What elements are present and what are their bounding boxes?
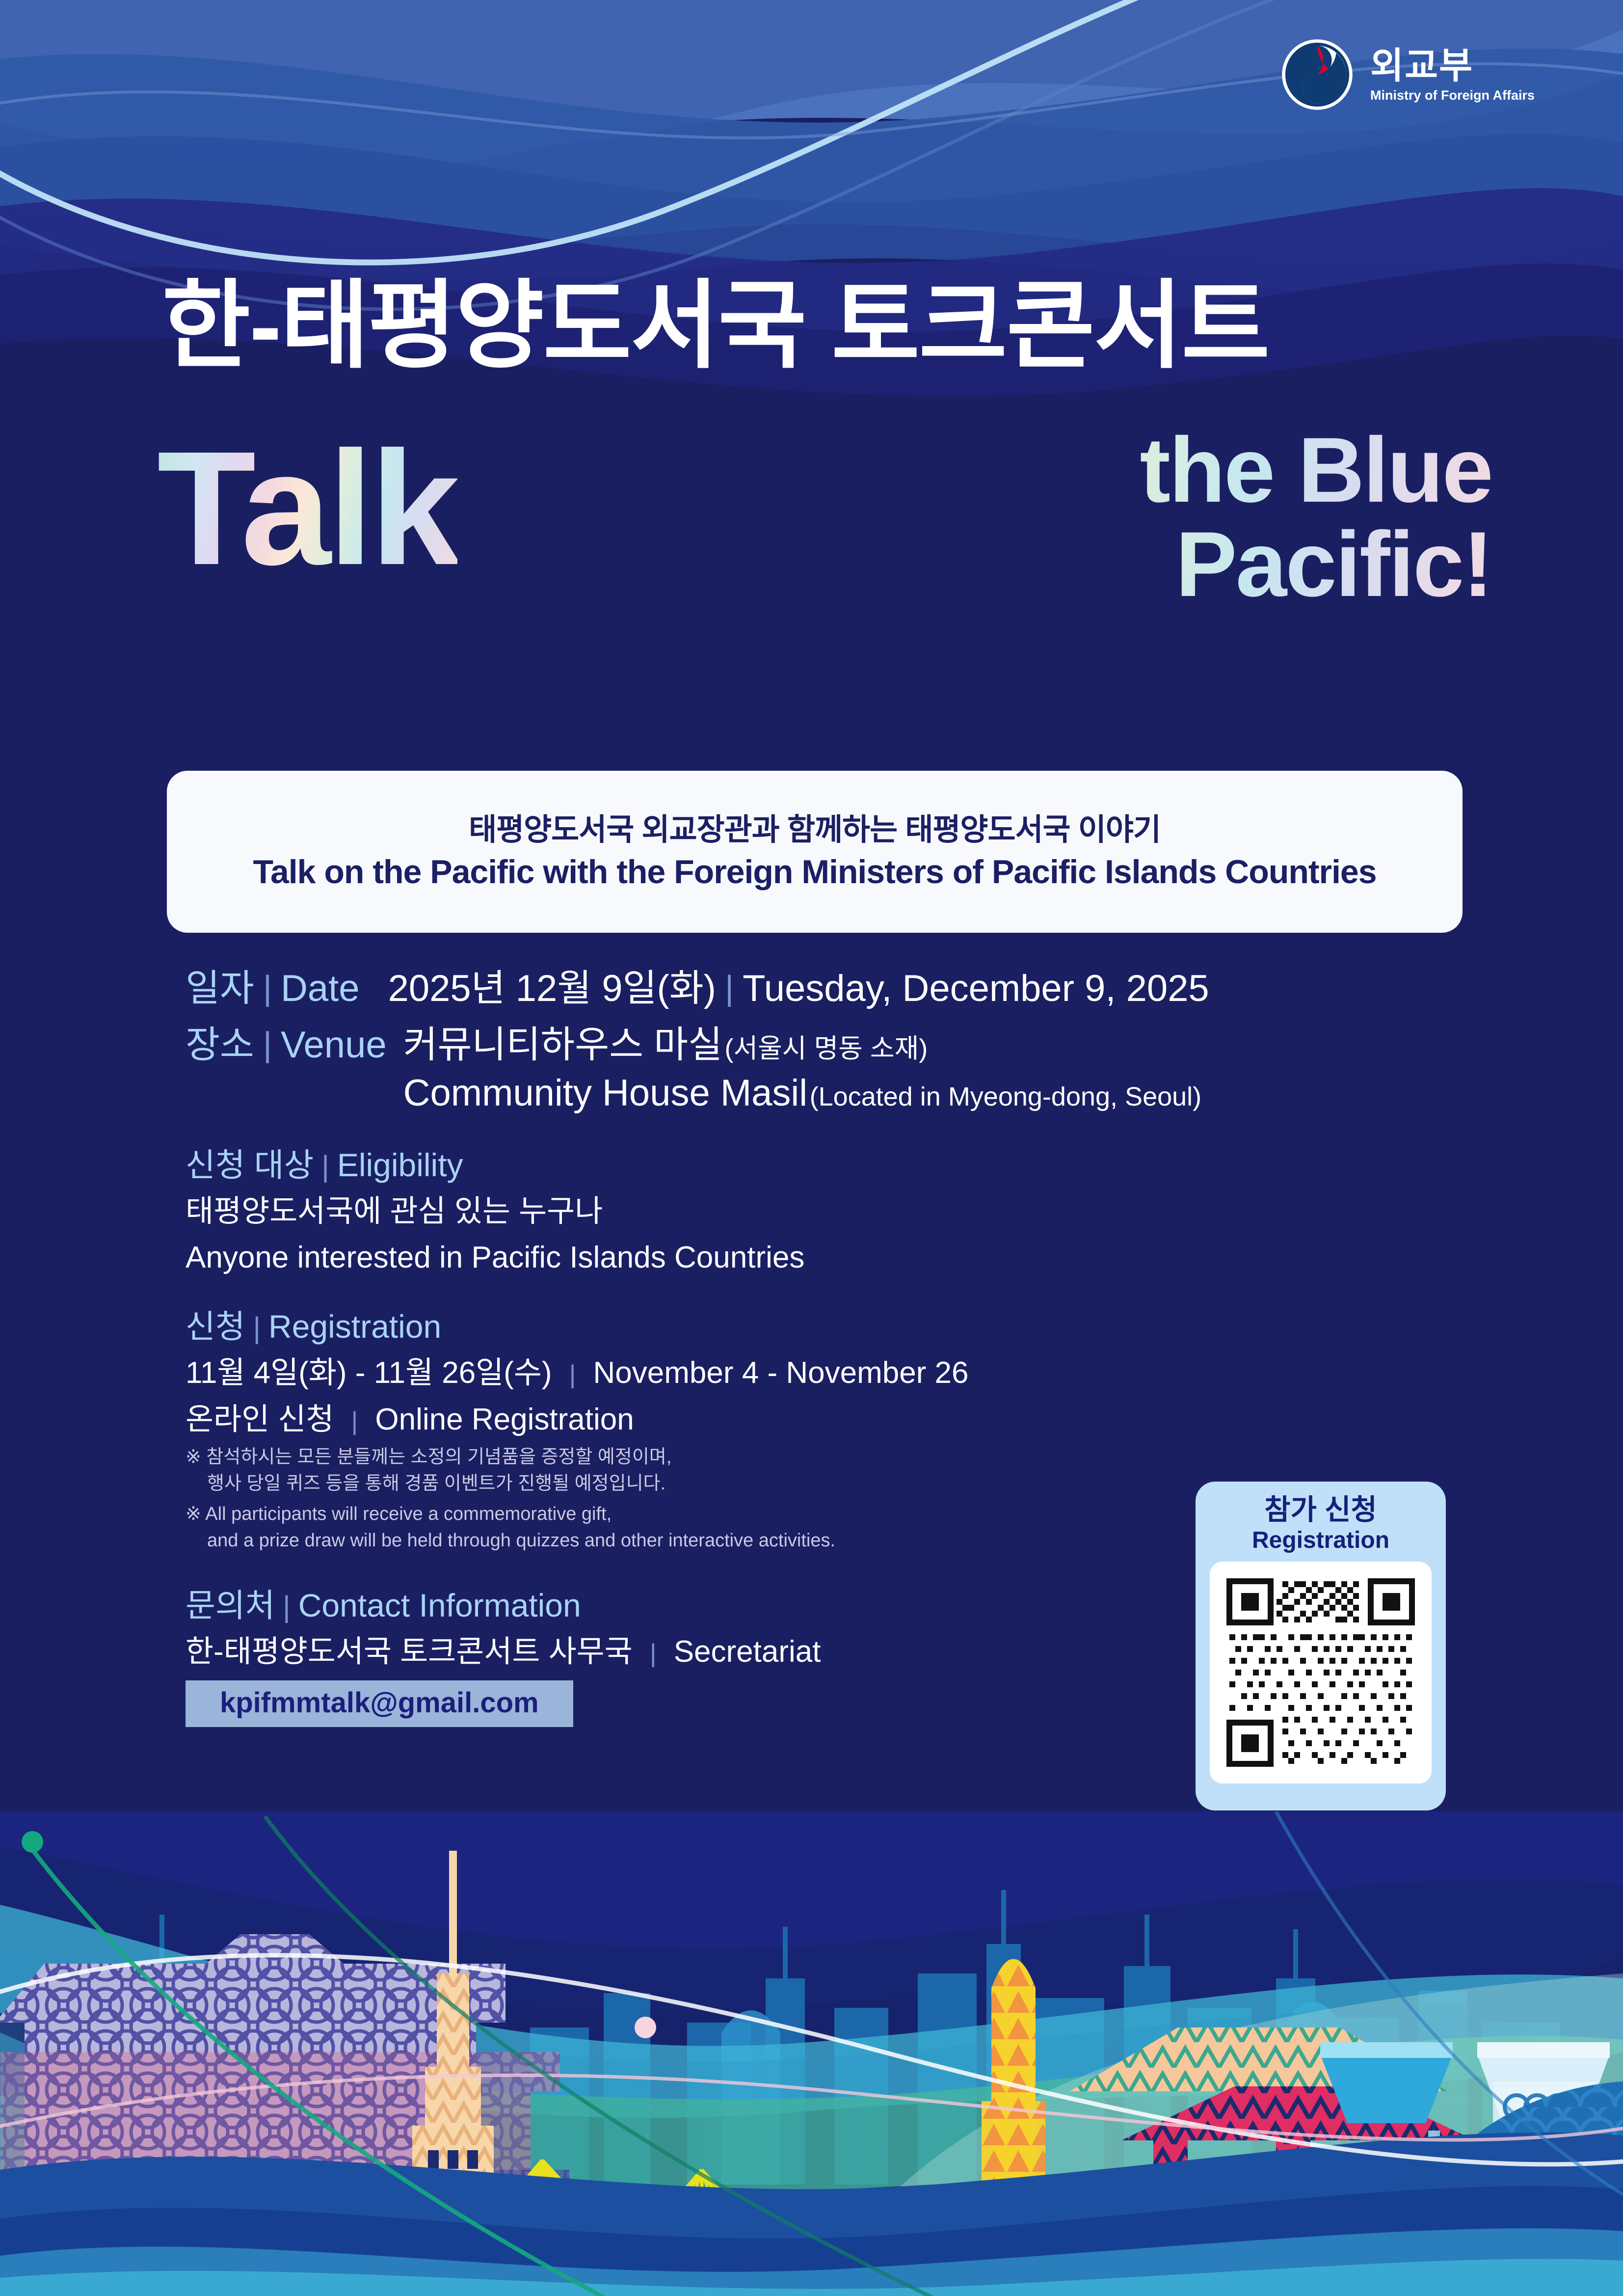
- subtitle-korean: 태평양도서국 외교장관과 함께하는 태평양도서국 이야기: [469, 813, 1161, 847]
- separator: |: [569, 1360, 576, 1389]
- detail-date: 일자 | Date 2025년 12월 9일(화) | Tuesday, Dec…: [186, 965, 1363, 1012]
- subtitle-card: 태평양도서국 외교장관과 함께하는 태평양도서국 이야기 Talk on the…: [167, 771, 1463, 933]
- contact-office-ko: 한-태평양도서국 토크콘서트 사무국: [186, 1635, 633, 1669]
- title-line-the-blue: the Blue: [589, 423, 1492, 517]
- detail-venue: 장소 | Venue 커뮤니티하우스 마실 (서울시 명동 소재) Commun…: [186, 1021, 1363, 1117]
- contact-office-en: Secretariat: [674, 1635, 821, 1669]
- contact-label-ko: 문의처: [186, 1585, 275, 1626]
- registration-label-en: Registration: [268, 1306, 441, 1347]
- registration-period-ko: 11월 4일(화) - 11월 26일(수): [186, 1356, 552, 1390]
- registration-qr-card[interactable]: 참가 신청 Registration: [1196, 1482, 1446, 1810]
- separator: |: [351, 1407, 358, 1435]
- ministry-logo: 외교부 Ministry of Foreign Affairs: [1281, 38, 1535, 111]
- ministry-name-en: Ministry of Foreign Affairs: [1370, 89, 1535, 102]
- online-registration-ko: 온라인 신청: [186, 1403, 334, 1436]
- event-details: 일자 | Date 2025년 12월 9일(화) | Tuesday, Dec…: [186, 965, 1363, 1727]
- qr-code-panel[interactable]: [1210, 1562, 1432, 1783]
- registration-label-ko: 신청: [186, 1306, 245, 1347]
- note-en-line2: and a prize draw will be held through qu…: [186, 1528, 1363, 1554]
- contact-email[interactable]: kpifmmtalk@gmail.com: [186, 1680, 573, 1727]
- date-label-en: Date: [281, 965, 360, 1012]
- date-value-ko: 2025년 12월 9일(화): [388, 965, 716, 1012]
- detail-eligibility: 신청 대상 | Eligibility 태평양도서국에 관심 있는 누구나 An…: [186, 1144, 1363, 1279]
- registration-period: 11월 4일(화) - 11월 26일(수) | November 4 - No…: [186, 1352, 1363, 1394]
- eligibility-label-ko: 신청 대상: [186, 1144, 314, 1186]
- separator: |: [263, 1021, 272, 1068]
- online-registration: 온라인 신청 | Online Registration: [186, 1399, 1363, 1440]
- qr-code-icon[interactable]: [1224, 1575, 1418, 1770]
- venue-value-ko-sub: (서울시 명동 소재): [724, 1034, 928, 1063]
- registration-period-en: November 4 - November 26: [593, 1356, 969, 1390]
- date-label-ko: 일자: [186, 965, 254, 1012]
- taegeuk-spiral-icon: [1281, 38, 1354, 111]
- registration-note-english: ※ All participants will receive a commem…: [186, 1501, 1363, 1554]
- note-en-line1: ※ All participants will receive a commem…: [186, 1504, 612, 1524]
- venue-label-en: Venue: [281, 1021, 387, 1069]
- separator: |: [263, 965, 272, 1011]
- poster-root: 외교부 Ministry of Foreign Affairs 한-태평양도서국…: [0, 0, 1623, 2296]
- date-value-en: Tuesday, December 9, 2025: [743, 965, 1209, 1012]
- title-line-pacific: Pacific!: [589, 517, 1492, 612]
- note-ko-line1: ※ 참석하시는 모든 분들께는 소정의 기념품을 증정할 예정이며,: [186, 1447, 671, 1467]
- venue-label-ko: 장소: [186, 1021, 254, 1069]
- separator: |: [253, 1308, 261, 1348]
- detail-contact: 문의처 | Contact Information 한-태평양도서국 토크콘서트…: [186, 1585, 1363, 1727]
- separator: |: [650, 1639, 657, 1668]
- separator: |: [321, 1146, 329, 1186]
- qr-title-en: Registration: [1252, 1528, 1389, 1554]
- eligibility-body-en: Anyone interested in Pacific Islands Cou…: [186, 1237, 1363, 1278]
- eligibility-label-en: Eligibility: [337, 1144, 463, 1186]
- title-word-talk: Talk: [157, 427, 457, 589]
- venue-value-en: Community House Masil: [403, 1072, 808, 1114]
- qr-title-ko: 참가 신청: [1264, 1494, 1377, 1526]
- separator: |: [283, 1587, 291, 1626]
- ministry-name-ko: 외교부: [1370, 48, 1535, 84]
- note-ko-line2: 행사 당일 퀴즈 등을 통해 경품 이벤트가 진행될 예정입니다.: [186, 1471, 1363, 1497]
- contact-label-en: Contact Information: [298, 1585, 581, 1626]
- title-words-blue-pacific: the Blue Pacific!: [589, 423, 1492, 612]
- venue-value-en-sub: (Located in Myeong-dong, Seoul): [810, 1082, 1202, 1111]
- venue-value-ko: 커뮤니티하우스 마실: [403, 1024, 722, 1066]
- registration-note-korean: ※ 참석하시는 모든 분들께는 소정의 기념품을 증정할 예정이며, 행사 당일…: [186, 1444, 1363, 1497]
- online-registration-en: Online Registration: [375, 1403, 634, 1436]
- contact-office: 한-태평양도서국 토크콘서트 사무국 | Secretariat: [186, 1631, 1363, 1673]
- poster-title-korean: 한-태평양도서국 토크콘서트: [162, 278, 1487, 374]
- subtitle-english: Talk on the Pacific with the Foreign Min…: [253, 854, 1376, 891]
- poster-title-english: Talk the Blue Pacific!: [157, 427, 1492, 702]
- detail-registration: 신청 | Registration 11월 4일(화) - 11월 26일(수)…: [186, 1306, 1363, 1554]
- separator: |: [725, 965, 734, 1011]
- eligibility-body-ko: 태평양도서국에 관심 있는 누구나: [186, 1191, 1363, 1232]
